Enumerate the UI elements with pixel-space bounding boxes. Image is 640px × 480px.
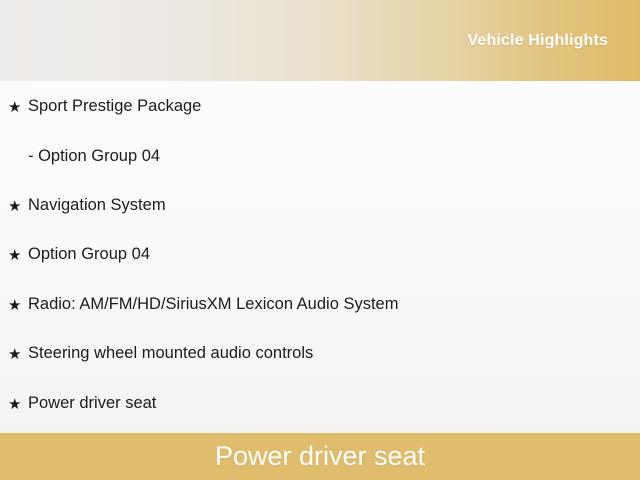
footer-caption-text: Power driver seat: [215, 443, 425, 470]
list-item-label: - Option Group 04: [28, 147, 160, 167]
list-item: ★ Navigation System: [0, 193, 640, 219]
list-item-label: Option Group 04: [28, 245, 150, 265]
star-bullet-icon: ★: [8, 298, 28, 313]
vehicle-highlights-card: Vehicle Highlights ★ Sport Prestige Pack…: [0, 0, 640, 480]
vehicle-highlights-list: ★ Sport Prestige Package ★ - Option Grou…: [0, 81, 640, 433]
page-title: Vehicle Highlights: [467, 32, 608, 50]
list-item-label: Steering wheel mounted audio controls: [28, 344, 313, 364]
star-bullet-icon: ★: [8, 100, 28, 115]
card-footer-caption-bar: Power driver seat: [0, 433, 640, 480]
list-item-label: Navigation System: [28, 196, 166, 216]
list-item: ★ Power driver seat: [0, 391, 640, 417]
star-bullet-icon: ★: [8, 199, 28, 214]
star-bullet-icon: ★: [8, 248, 28, 263]
list-item-label: Power driver seat: [28, 394, 156, 414]
list-item: ★ Option Group 04: [0, 242, 640, 268]
list-item: ★ Steering wheel mounted audio controls: [0, 341, 640, 367]
list-item: ★ Sport Prestige Package: [0, 94, 640, 120]
star-bullet-icon: ★: [8, 397, 28, 412]
list-item: ★ - Option Group 04: [0, 144, 640, 170]
card-header: Vehicle Highlights: [0, 0, 640, 81]
list-item-label: Radio: AM/FM/HD/SiriusXM Lexicon Audio S…: [28, 295, 398, 315]
star-bullet-icon: ★: [8, 347, 28, 362]
list-item-label: Sport Prestige Package: [28, 97, 201, 117]
list-item: ★ Radio: AM/FM/HD/SiriusXM Lexicon Audio…: [0, 292, 640, 318]
